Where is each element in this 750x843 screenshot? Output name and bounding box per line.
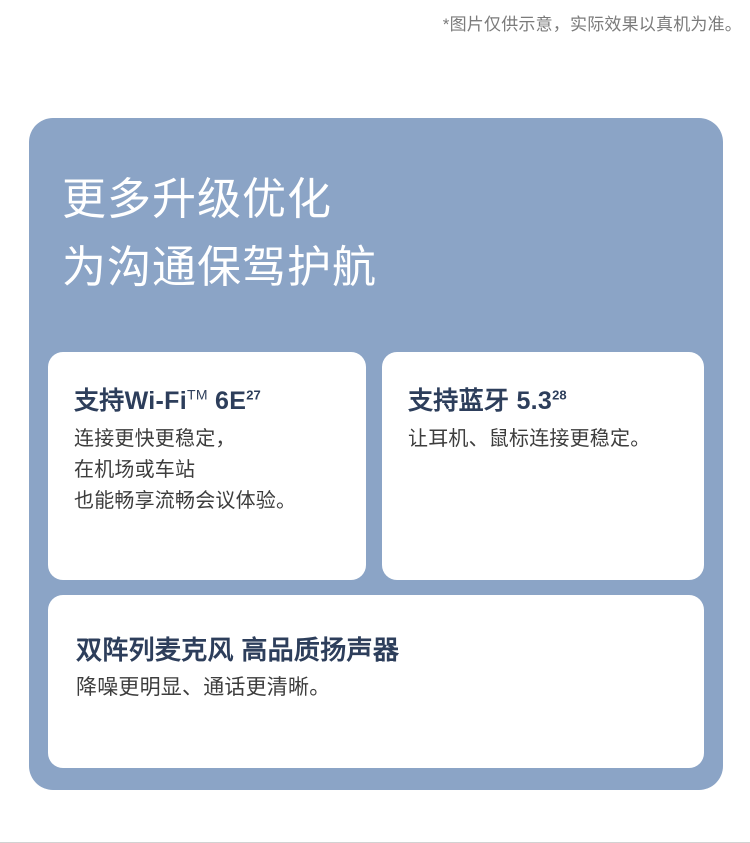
- footnote-marker-27: 27: [246, 388, 260, 403]
- card-title-bluetooth-main: 支持蓝牙 5.3: [408, 387, 552, 415]
- promo-page: *图片仅供示意，实际效果以真机为准。 更多升级优化 为沟通保驾护航 支持Wi-F…: [0, 0, 750, 843]
- card-title-wifi-rest: 6E: [208, 387, 246, 415]
- feature-card-wifi: 支持Wi-FiTM 6E27 连接更快更稳定， 在机场或车站 也能畅享流畅会议体…: [48, 352, 366, 580]
- trademark-icon: TM: [187, 387, 208, 403]
- footnote-marker-28: 28: [552, 388, 566, 403]
- card-content-audio: 双阵列麦克风 高品质扬声器 降噪更明显、通话更清晰。: [48, 595, 704, 703]
- feature-card-bluetooth: 支持蓝牙 5.328 让耳机、鼠标连接更稳定。: [382, 352, 704, 580]
- card-title-audio: 双阵列麦克风 高品质扬声器: [76, 633, 704, 667]
- card-title-wifi: 支持Wi-FiTM 6E27: [74, 384, 366, 418]
- card-body-bluetooth-line-1: 让耳机、鼠标连接更稳定。: [408, 424, 704, 455]
- panel-headline: 更多升级优化 为沟通保驾护航: [62, 166, 377, 302]
- card-content-bluetooth: 支持蓝牙 5.328 让耳机、鼠标连接更稳定。: [382, 352, 704, 455]
- card-body-bluetooth: 让耳机、鼠标连接更稳定。: [408, 424, 704, 455]
- card-body-wifi-line-2: 在机场或车站: [74, 455, 366, 486]
- card-title-wifi-main: 支持Wi-Fi: [74, 387, 187, 415]
- disclaimer-note: *图片仅供示意，实际效果以真机为准。: [443, 12, 742, 38]
- card-title-bluetooth: 支持蓝牙 5.328: [408, 384, 704, 418]
- headline-line-1: 更多升级优化: [62, 166, 377, 234]
- headline-line-2: 为沟通保驾护航: [62, 234, 377, 302]
- card-body-audio-line-1: 降噪更明显、通话更清晰。: [76, 672, 704, 703]
- card-body-audio: 降噪更明显、通话更清晰。: [76, 672, 704, 703]
- card-body-wifi: 连接更快更稳定， 在机场或车站 也能畅享流畅会议体验。: [74, 424, 366, 517]
- feature-panel: 更多升级优化 为沟通保驾护航 支持Wi-FiTM 6E27 连接更快更稳定， 在…: [29, 118, 723, 790]
- feature-card-audio: 双阵列麦克风 高品质扬声器 降噪更明显、通话更清晰。: [48, 595, 704, 768]
- card-body-wifi-line-3: 也能畅享流畅会议体验。: [74, 486, 366, 517]
- card-body-wifi-line-1: 连接更快更稳定，: [74, 424, 366, 455]
- card-content-wifi: 支持Wi-FiTM 6E27 连接更快更稳定， 在机场或车站 也能畅享流畅会议体…: [48, 352, 366, 517]
